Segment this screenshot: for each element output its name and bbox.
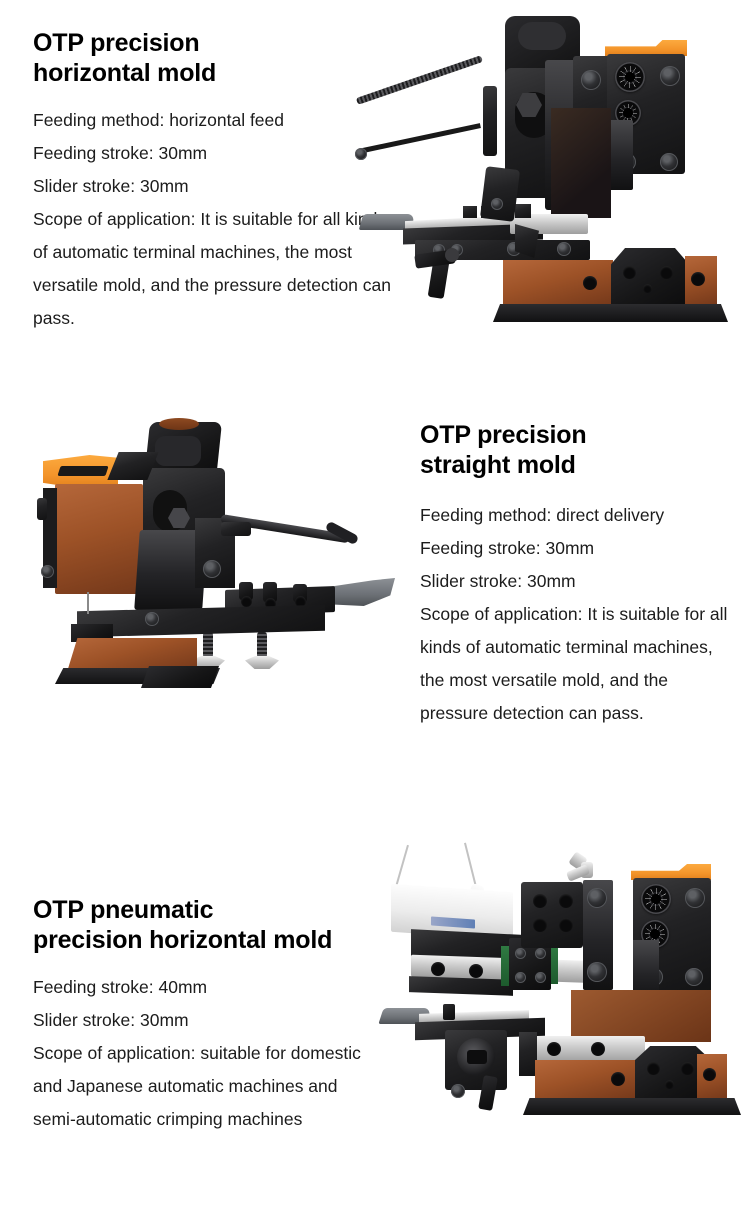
section2-title: OTP precision straight mold: [420, 420, 740, 480]
section2-spec-slider-stroke: Slider stroke: 30mm: [420, 565, 740, 598]
section3-product-image: [375, 840, 750, 1140]
product-section-pneumatic-horizontal-mold: OTP pneumatic precision horizontal mold …: [0, 810, 750, 1206]
section3-spec-feeding-stroke: Feeding stroke: 40mm: [33, 971, 378, 1004]
product-section-straight-mold: OTP precision straight mold Feeding meth…: [0, 400, 750, 810]
product-section-horizontal-mold: OTP precision horizontal mold Feeding me…: [0, 0, 750, 400]
bronze-slab: [571, 990, 711, 1042]
thumbscrew-spring-right: [257, 632, 267, 658]
section2-product-image: [25, 410, 410, 710]
machine-deck: [77, 605, 325, 637]
section2-text-block: OTP precision straight mold Feeding meth…: [420, 420, 740, 730]
section2-spec-feeding-method: Feeding method: direct delivery: [420, 499, 740, 532]
section2-spec-scope: Scope of application: It is suitable for…: [420, 598, 738, 730]
section1-spec-feeding-stroke: Feeding stroke: 30mm: [33, 137, 393, 170]
adjustment-dial-upper: [641, 884, 671, 914]
base-plate: [523, 1098, 741, 1115]
section3-text-block: OTP pneumatic precision horizontal mold …: [33, 895, 378, 1136]
bronze-side-panel: [55, 484, 143, 594]
section1-product-image: [355, 8, 745, 348]
thumbscrew-spring-left: [203, 632, 213, 658]
base-plate: [493, 304, 728, 322]
section1-spec-scope: Scope of application: It is suitable for…: [33, 203, 391, 335]
wing-nut-right: [245, 656, 279, 669]
section1-title: OTP precision horizontal mold: [33, 28, 393, 88]
adjustment-dial-upper: [615, 62, 645, 92]
section1-text-block: OTP precision horizontal mold Feeding me…: [33, 28, 393, 335]
section3-spec-slider-stroke: Slider stroke: 30mm: [33, 1004, 378, 1037]
section3-spec-scope: Scope of application: suitable for domes…: [33, 1037, 378, 1136]
section2-spec-feeding-stroke: Feeding stroke: 30mm: [420, 532, 740, 565]
lower-rail: [525, 1036, 645, 1062]
section3-title: OTP pneumatic precision horizontal mold: [33, 895, 378, 955]
section1-spec-slider-stroke: Slider stroke: 30mm: [33, 170, 393, 203]
section1-spec-feeding-method: Feeding method: horizontal feed: [33, 104, 393, 137]
